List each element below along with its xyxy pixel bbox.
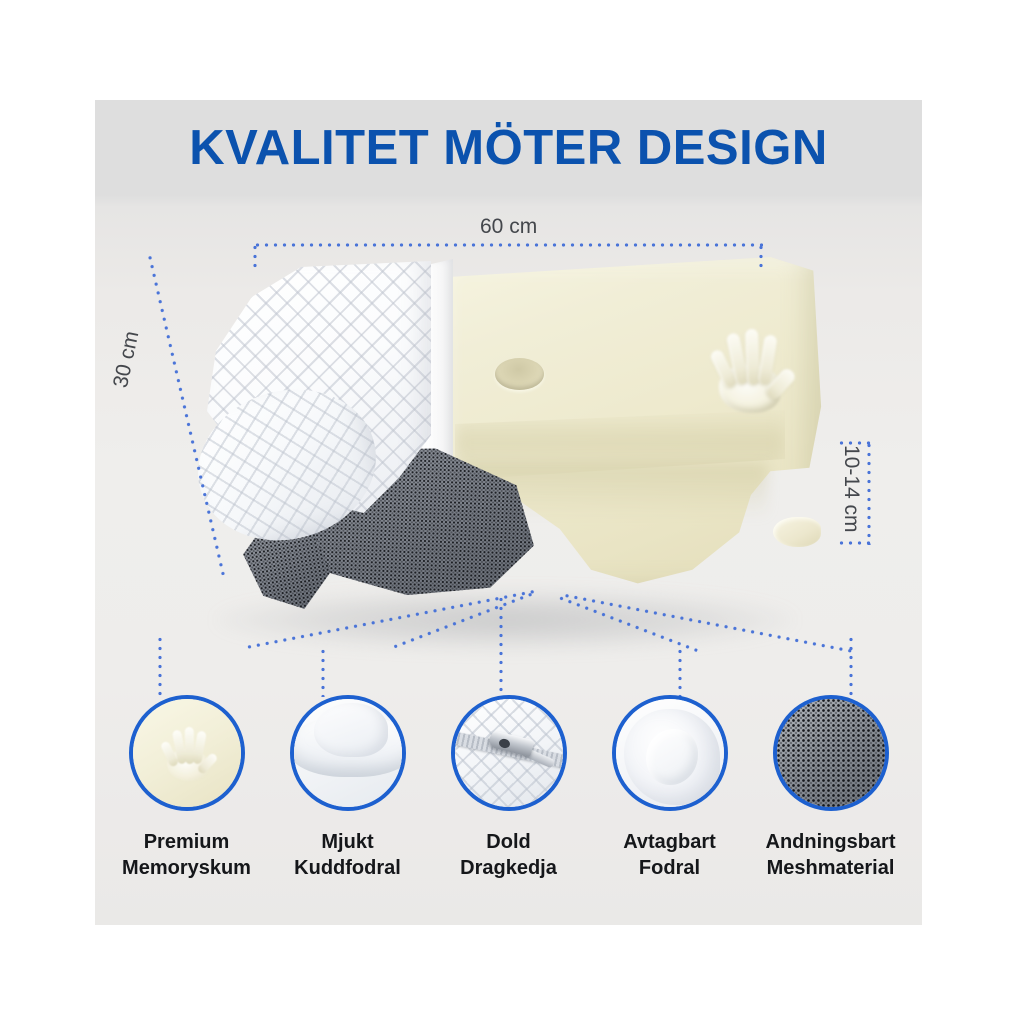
feature-thumbnail[interactable] [773,695,889,811]
handprint-impression-icon [707,319,803,419]
height-dimension-label: 30 cm [109,329,144,390]
memory-foam-handprint-icon [133,699,241,807]
connector-drop-5 [849,635,853,697]
width-tick-right [759,243,763,269]
feature-item-hidden-zipper[interactable]: Dold Dragkedja [431,695,586,925]
width-dimension-line [253,243,763,247]
feature-thumbnail[interactable] [129,695,245,811]
feature-item-removable-cover[interactable]: Avtagbart Fodral [592,695,747,925]
feature-label: Premium Memoryskum [122,829,251,882]
depth-dimension-line [867,441,871,545]
feature-label-line2: Fodral [623,855,716,881]
feature-label-line1: Mjukt [294,829,401,855]
feature-item-breathable-mesh[interactable]: Andningsbart Meshmaterial [753,695,908,925]
ventilation-hole [495,358,544,390]
feature-item-soft-cover[interactable]: Mjukt Kuddfodral [270,695,425,925]
soft-pillow-cover-icon [294,699,402,807]
feature-label-line1: Avtagbart [623,829,716,855]
feature-list: Premium Memoryskum Mjukt Kuddfodral [95,695,922,925]
feature-label: Avtagbart Fodral [623,829,716,882]
width-tick-left [253,243,257,269]
feature-label-line1: Dold [460,829,557,855]
product-hero-image: 60 cm 30 cm 10-14 cm [95,195,922,695]
connector-drop-3 [499,595,503,697]
feature-thumbnail[interactable] [290,695,406,811]
feature-label: Dold Dragkedja [460,829,557,882]
feature-label-line2: Kuddfodral [294,855,401,881]
feature-item-memory-foam[interactable]: Premium Memoryskum [109,695,264,925]
width-dimension-label: 60 cm [480,215,537,239]
feature-label: Andningsbart Meshmaterial [766,829,896,882]
title-banner: KVALITET MÖTER DESIGN [95,100,922,195]
feature-label: Mjukt Kuddfodral [294,829,401,882]
connector-drop-4 [678,647,682,697]
product-infographic-card: KVALITET MÖTER DESIGN [95,100,922,925]
page-title: KVALITET MÖTER DESIGN [189,120,827,176]
feature-label-line1: Andningsbart [766,829,896,855]
hidden-zipper-icon [455,699,563,807]
connector-drop-1 [158,635,162,697]
feature-label-line1: Premium [122,829,251,855]
feature-label-line2: Dragkedja [460,855,557,881]
breathable-mesh-icon [777,699,885,807]
depth-tick-bottom [837,541,871,545]
infographic-stage: KVALITET MÖTER DESIGN [0,0,1024,1024]
connector-drop-2 [321,647,325,697]
foam-shoulder-nub [773,517,821,547]
feature-thumbnail[interactable] [612,695,728,811]
depth-dimension-label: 10-14 cm [839,445,863,533]
feature-label-line2: Memoryskum [122,855,251,881]
mini-handprint [159,721,221,785]
feature-thumbnail[interactable] [451,695,567,811]
feature-label-line2: Meshmaterial [766,855,896,881]
removable-cover-icon [616,699,724,807]
